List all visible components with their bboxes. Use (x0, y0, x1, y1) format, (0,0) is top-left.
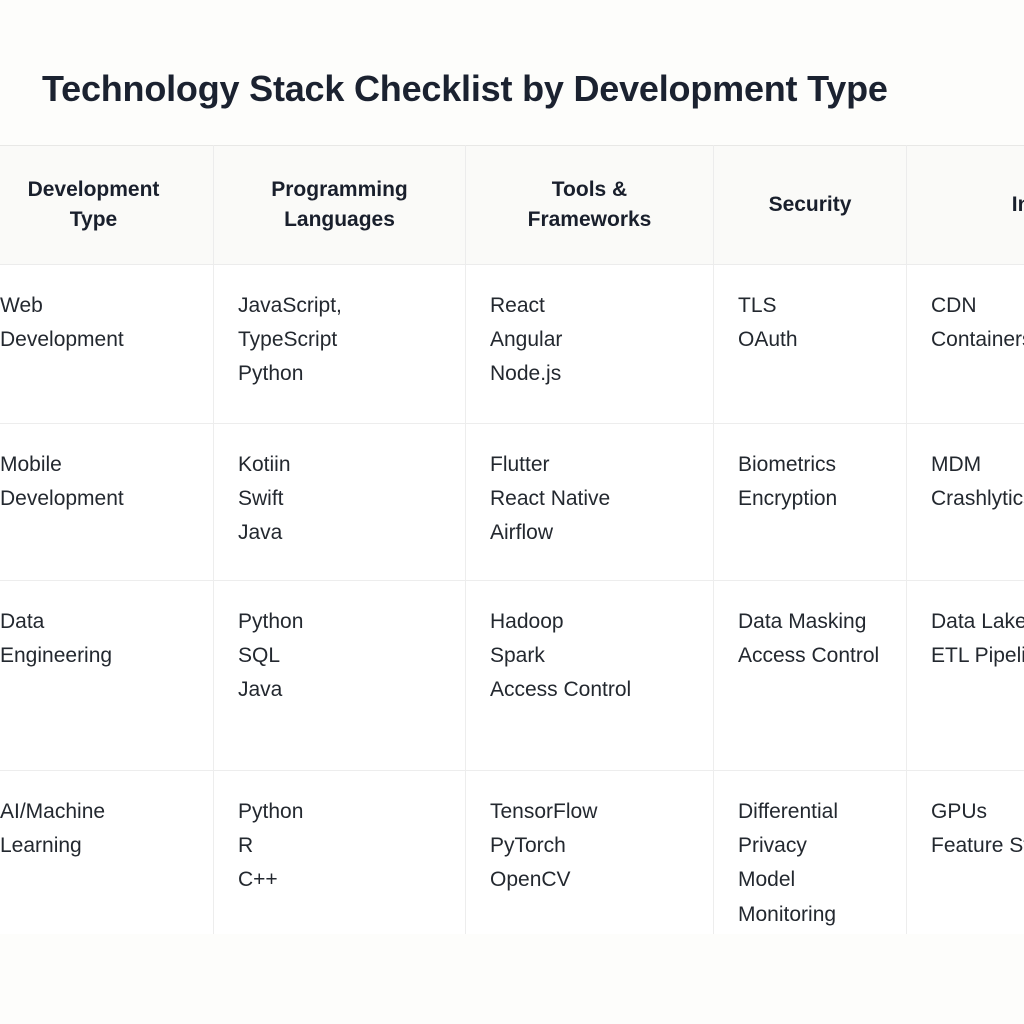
cell-line: Angular (490, 323, 689, 357)
column-header-line-1: Infrastructure (921, 190, 1024, 220)
table-row[interactable]: AI/Machine Learning Python R C++ TensorF… (0, 771, 1024, 935)
cell-line: Mobile (0, 448, 199, 482)
table-row[interactable]: Web Development JavaScript, TypeScript P… (0, 265, 1024, 424)
cell-development-type: Mobile Development (0, 424, 214, 581)
column-header-programming-languages[interactable]: Programming Languages (214, 146, 466, 265)
column-header-line-2: Type (0, 205, 199, 235)
cell-line: Java (238, 673, 441, 707)
cell-tools-frameworks: TensorFlow PyTorch OpenCV (466, 771, 714, 935)
cell-line: Data (0, 605, 199, 639)
cell-line: Web (0, 289, 199, 323)
cell-line: Development (0, 482, 199, 516)
cell-development-type: AI/Machine Learning (0, 771, 214, 935)
column-header-infrastructure[interactable]: Infrastructure (907, 146, 1024, 265)
cell-line: Differential Privacy (738, 795, 882, 863)
cell-line: Model Monitoring (738, 863, 882, 931)
cell-line: Access Control (490, 673, 689, 707)
cell-development-type: Web Development (0, 265, 214, 424)
cell-line: React Native (490, 482, 689, 516)
cell-line: Airflow (490, 516, 689, 550)
cell-infrastructure: Data Lake ETL Pipelines (907, 581, 1024, 771)
column-header-development-type[interactable]: Development Type (0, 146, 214, 265)
cell-line: Engineering (0, 639, 199, 673)
cell-tools-frameworks: React Angular Node.js (466, 265, 714, 424)
column-header-line-1: Development (0, 175, 199, 205)
table-body: Web Development JavaScript, TypeScript P… (0, 265, 1024, 935)
cell-line: Feature Store (931, 829, 1024, 863)
technology-stack-table: Development Type Programming Languages T… (0, 145, 1024, 934)
cell-programming-languages: Python R C++ (214, 771, 466, 935)
cell-line: MDM (931, 448, 1024, 482)
cell-line: Containers (931, 323, 1024, 357)
cell-line: Data Masking (738, 605, 882, 639)
cell-line: OpenCV (490, 863, 689, 897)
cell-infrastructure: CDN Containers (907, 265, 1024, 424)
cell-line: OAuth (738, 323, 882, 357)
cell-line: C++ (238, 863, 441, 897)
cell-line: Learning (0, 829, 199, 863)
cell-line: Python (238, 357, 441, 391)
cell-line: Python (238, 795, 441, 829)
cell-line: Node.js (490, 357, 689, 391)
cell-tools-frameworks: Hadoop Spark Access Control (466, 581, 714, 771)
cell-infrastructure: GPUs Feature Store (907, 771, 1024, 935)
page-root: Technology Stack Checklist by Developmen… (0, 0, 1024, 1024)
column-header-line-2: Languages (228, 205, 451, 235)
cell-security: TLS OAuth (714, 265, 907, 424)
cell-tools-frameworks: Flutter React Native Airflow (466, 424, 714, 581)
table-header-row: Development Type Programming Languages T… (0, 146, 1024, 265)
column-header-line-1: Security (728, 190, 892, 220)
table-viewport: Development Type Programming Languages T… (0, 145, 1024, 934)
cell-line: Biometrics (738, 448, 882, 482)
table-row[interactable]: Data Engineering Python SQL Java Hadoop … (0, 581, 1024, 771)
cell-security: Data Masking Access Control (714, 581, 907, 771)
cell-security: Differential Privacy Model Monitoring (714, 771, 907, 935)
column-header-security[interactable]: Security (714, 146, 907, 265)
cell-line: PyTorch (490, 829, 689, 863)
cell-line: Crashlytics (931, 482, 1024, 516)
cell-development-type: Data Engineering (0, 581, 214, 771)
cell-line: Flutter (490, 448, 689, 482)
cell-line: JavaScript, (238, 289, 441, 323)
column-header-line-1: Tools & (480, 175, 699, 205)
cell-line: Python (238, 605, 441, 639)
cell-line: Development (0, 323, 199, 357)
cell-security: Biometrics Encryption (714, 424, 907, 581)
page-title: Technology Stack Checklist by Developmen… (42, 68, 888, 109)
cell-line: SQL (238, 639, 441, 673)
table-scroll-container: Development Type Programming Languages T… (0, 145, 1024, 934)
cell-line: TLS (738, 289, 882, 323)
cell-line: ETL Pipelines (931, 639, 1024, 673)
cell-line: Access Control (738, 639, 882, 673)
cell-line: Spark (490, 639, 689, 673)
cell-line: React (490, 289, 689, 323)
cell-line: GPUs (931, 795, 1024, 829)
cell-infrastructure: MDM Crashlytics (907, 424, 1024, 581)
cell-line: Encryption (738, 482, 882, 516)
cell-programming-languages: JavaScript, TypeScript Python (214, 265, 466, 424)
table-row[interactable]: Mobile Development Kotiin Swift Java Flu… (0, 424, 1024, 581)
cell-line: Swift (238, 482, 441, 516)
cell-line: TypeScript (238, 323, 441, 357)
cell-line: CDN (931, 289, 1024, 323)
table-header: Development Type Programming Languages T… (0, 146, 1024, 265)
cell-line: Data Lake (931, 605, 1024, 639)
cell-line: Kotiin (238, 448, 441, 482)
column-header-line-1: Programming (228, 175, 451, 205)
column-header-tools-frameworks[interactable]: Tools & Frameworks (466, 146, 714, 265)
cell-line: R (238, 829, 441, 863)
cell-programming-languages: Kotiin Swift Java (214, 424, 466, 581)
cell-line: AI/Machine (0, 795, 199, 829)
cell-programming-languages: Python SQL Java (214, 581, 466, 771)
cell-line: Hadoop (490, 605, 689, 639)
column-header-line-2: Frameworks (480, 205, 699, 235)
cell-line: TensorFlow (490, 795, 689, 829)
cell-line: Java (238, 516, 441, 550)
